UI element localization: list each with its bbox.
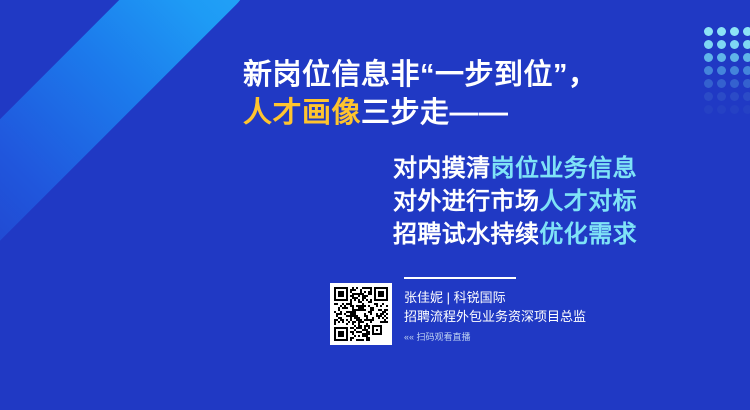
key-point-1-cyan: 岗位业务信息 [491, 155, 637, 182]
qr-code[interactable] [330, 283, 392, 345]
headline-line-1: 新岗位信息非“一步到位”， [243, 56, 713, 94]
grid-dot [743, 66, 750, 75]
grid-dot [743, 79, 750, 88]
grid-dot [743, 27, 750, 36]
key-point-2-cyan: 人才对标 [539, 188, 637, 215]
grid-dot [730, 53, 739, 62]
grid-dot [704, 40, 713, 49]
key-point-1: 对内摸清岗位业务信息 [393, 152, 637, 185]
grid-dot [704, 27, 713, 36]
grid-dot [743, 40, 750, 49]
key-point-3: 招聘试水持续优化需求 [393, 218, 637, 251]
promo-poster: 新岗位信息非“一步到位”， 人才画像三步走—— 对内摸清岗位业务信息 对外进行市… [0, 0, 750, 410]
grid-dot [743, 53, 750, 62]
headline: 新岗位信息非“一步到位”， 人才画像三步走—— [243, 56, 713, 132]
grid-dot [717, 40, 726, 49]
grid-dot [730, 79, 739, 88]
key-point-3-white: 招聘试水持续 [393, 221, 539, 248]
grid-dot [730, 92, 739, 101]
grid-dot [743, 105, 750, 114]
grid-dot [730, 40, 739, 49]
scan-hint: «« 扫码观看直播 [404, 331, 644, 344]
headline-white-segment: 三步走—— [361, 97, 509, 129]
qr-code-image [334, 287, 388, 341]
key-point-1-white: 对内摸清 [393, 155, 491, 182]
credit-divider [404, 277, 516, 279]
grid-dot [717, 27, 726, 36]
speaker-credit: 张佳妮 | 科锐国际 招聘流程外包业务资深项目总监 «« 扫码观看直播 [404, 277, 644, 344]
grid-dot [730, 27, 739, 36]
key-point-2-white: 对外进行市场 [393, 188, 539, 215]
speaker-name: 张佳妮 | 科锐国际 [404, 288, 644, 307]
grid-dot [743, 92, 750, 101]
grid-dot [717, 79, 726, 88]
grid-dot [730, 105, 739, 114]
key-points-list: 对内摸清岗位业务信息 对外进行市场人才对标 招聘试水持续优化需求 [393, 152, 637, 251]
grid-dot [730, 66, 739, 75]
grid-dot [717, 105, 726, 114]
key-point-3-cyan: 优化需求 [539, 221, 637, 248]
headline-gold-segment: 人才画像 [243, 97, 361, 129]
grid-dot [717, 92, 726, 101]
key-point-2: 对外进行市场人才对标 [393, 185, 637, 218]
grid-dot [717, 66, 726, 75]
grid-dot [717, 53, 726, 62]
headline-line-2: 人才画像三步走—— [243, 94, 713, 132]
speaker-role: 招聘流程外包业务资深项目总监 [404, 307, 644, 326]
capsule-shape [0, 0, 267, 307]
